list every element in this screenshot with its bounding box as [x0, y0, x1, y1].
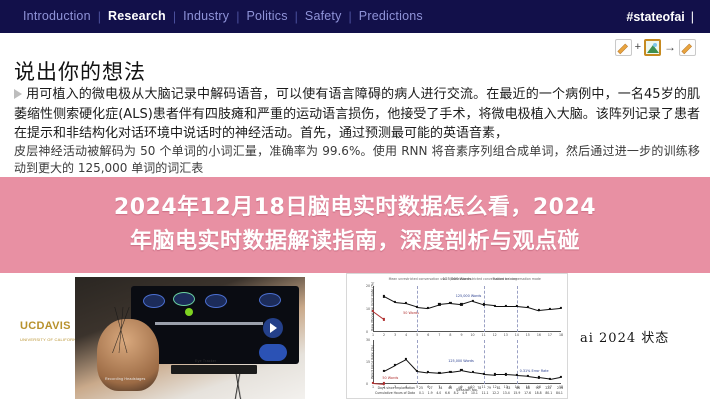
- chart-panel-raw-phoneme-error-rate: Raw Phoneme Error Rate (%) 20 10 0 50 Wo…: [373, 286, 561, 332]
- top-navigation-bar: Introduction | Research | Industry | Pol…: [0, 0, 710, 33]
- screen-bubble: [205, 294, 227, 308]
- photo-label-recording-headstages: Recording Headstages: [105, 377, 146, 382]
- title-overlay-banner: 2024年12月18日脑电实时数据怎么看，2024 年脑电实时数据解读指南，深度…: [0, 177, 710, 273]
- screen-bubble: [173, 292, 195, 306]
- chart-panel-word-error-rate: Word Error Rate (%) 30 15 0 50 Words 125…: [373, 340, 561, 384]
- chart-reference-line: [517, 286, 518, 332]
- chart-annotation-50-words-b: 50 Words: [382, 376, 398, 380]
- screen-caption-line: [155, 322, 263, 325]
- chart-xtick: 12: [493, 333, 497, 337]
- chart-annotation-125000-words-b: 125,000 Words: [448, 359, 474, 363]
- article-paragraph-tail: 皮层神经活动被解码为 50 个单词的小词汇量，准确率为 99.6%。使用 RNN…: [14, 143, 700, 177]
- uc-davis-logo-sub: UNIVERSITY OF CALIFORNIA: [20, 334, 81, 345]
- article-paragraph: 用可植入的微电极从大脑记录中解码语音，可以使有语言障碍的病人进行交流。在最近的一…: [14, 85, 700, 144]
- table-cell: 12.2: [492, 391, 499, 396]
- table-cell: 4.9: [462, 391, 467, 396]
- chart-xtick: 2: [383, 333, 385, 337]
- nav-item-introduction[interactable]: Introduction: [16, 0, 98, 33]
- chart-xtick: 8: [449, 333, 451, 337]
- screen-status-dot: [185, 308, 193, 316]
- chart-xtick: 17: [548, 333, 552, 337]
- chart-xtick: 7: [438, 333, 440, 337]
- chart-reference-line: [417, 286, 418, 332]
- electrode-wires: [87, 307, 157, 353]
- chart-x-axis: [373, 331, 561, 332]
- chart-reference-line: [517, 340, 518, 384]
- error-rate-chart: 125,000 Words Raw Phoneme Error Rate (%)…: [346, 273, 568, 399]
- table-cell: 80.1: [545, 391, 552, 396]
- chart-data-point: [383, 382, 385, 384]
- pencil-icon[interactable]: [615, 39, 632, 56]
- uc-davis-logo-main: UCDAVIS: [20, 320, 71, 332]
- chart-y-label-bottom: Word Error Rate (%): [371, 340, 376, 384]
- arrow-right-icon: →: [664, 39, 676, 56]
- table-cell: 6.6: [445, 391, 450, 396]
- screen-bubble: [143, 294, 165, 308]
- nav-item-industry[interactable]: Industry: [176, 0, 236, 33]
- chart-annotation-error-rate: 0.31% Error Rate: [520, 369, 549, 373]
- chart-xtick: 11: [482, 333, 486, 337]
- table-row: Cumulative Hours of Data 0.11.94.06.68.2…: [363, 391, 563, 396]
- chart-xtick: 10: [470, 333, 474, 337]
- chart-ytick: 0: [366, 330, 368, 334]
- chart-data-table: Days since Implantation 2527344648687879…: [363, 386, 563, 396]
- chart-data-point: [560, 307, 562, 309]
- chart-xtick: 9: [460, 333, 462, 337]
- nav-items-group: Introduction | Research | Industry | Pol…: [16, 0, 430, 33]
- chart-xtick: 6: [427, 333, 429, 337]
- nav-end-bar: |: [691, 10, 694, 24]
- table-row-values-hours: 0.11.94.06.68.24.910.111.112.213.415.917…: [419, 391, 563, 396]
- uc-davis-logo: UCDAVIS UNIVERSITY OF CALIFORNIA: [20, 321, 81, 345]
- photo-label-eye-tracker: Eye Tracker: [195, 359, 216, 364]
- tripod-stand: [195, 369, 285, 399]
- bci-photo: Recording Headstages Eye Tracker: [75, 277, 305, 399]
- table-cell: 4.0: [436, 391, 441, 396]
- chart-reference-line: [484, 286, 485, 332]
- chart-data-point: [383, 318, 385, 320]
- chart-x-axis: [373, 383, 561, 384]
- chart-xtick: 18: [559, 333, 563, 337]
- chart-xtick: 13: [504, 333, 508, 337]
- page-root: Introduction | Research | Industry | Pol…: [0, 0, 710, 400]
- chart-data-point: [560, 376, 562, 378]
- table-cell: 8.2: [454, 391, 459, 396]
- chart-reference-line: [484, 340, 485, 384]
- chart-ytick: 10: [366, 307, 370, 311]
- table-cell: 11.1: [482, 391, 489, 396]
- article-paragraph-text: 用可植入的微电极从大脑记录中解码语音，可以使有语言障碍的病人进行交流。在最近的一…: [14, 87, 700, 141]
- chart-xtick: 4: [405, 333, 407, 337]
- table-cell: 15.9: [513, 391, 520, 396]
- table-cell: 10.1: [471, 391, 478, 396]
- chart-xtick: 5: [416, 333, 418, 337]
- hashtag-stateofai[interactable]: #stateofai: [626, 10, 684, 24]
- pencil-icon-2[interactable]: [679, 39, 696, 56]
- chart-xtick: 3: [394, 333, 396, 337]
- table-cell: 17.6: [524, 391, 531, 396]
- table-cell: 1.9: [428, 391, 433, 396]
- chart-xtick: 16: [537, 333, 541, 337]
- nav-item-politics[interactable]: Politics: [239, 0, 294, 33]
- image-icon[interactable]: [644, 39, 661, 56]
- bullet-triangle-icon: [14, 89, 22, 99]
- table-cell: 18.8: [535, 391, 542, 396]
- chart-y-label-top: Raw Phoneme Error Rate (%): [371, 287, 376, 331]
- nav-item-research[interactable]: Research: [101, 0, 173, 33]
- chart-reference-label: Trained on conversation mode: [493, 277, 541, 281]
- overlay-line-1: 2024年12月18日脑电实时数据怎么看，2024: [114, 191, 596, 225]
- chart-reference-line: [417, 340, 418, 384]
- chart-ytick: 30: [366, 338, 370, 342]
- chart-annotation-125000-words: 125,000 Words: [456, 294, 482, 298]
- screen-pill-button: [259, 344, 287, 361]
- table-row-label-hours: Cumulative Hours of Data: [363, 391, 419, 396]
- screen-bubble: [259, 293, 281, 307]
- nav-item-safety[interactable]: Safety: [298, 0, 349, 33]
- overlay-line-2: 年脑电实时数据解读指南，深度剖析与观点碰: [130, 225, 580, 259]
- chart-xtick: 14: [515, 333, 519, 337]
- table-cell: 0.1: [419, 391, 424, 396]
- chart-xtick: 1: [372, 333, 374, 337]
- table-cell: 13.4: [503, 391, 510, 396]
- chart-ytick: 20: [366, 284, 370, 288]
- chart-ytick: 15: [366, 360, 370, 364]
- table-cell: 84.1: [556, 391, 563, 396]
- figure-row: UCDAVIS UNIVERSITY OF CALIFORNIA: [0, 269, 710, 399]
- page-title: 说出你的想法: [14, 56, 146, 86]
- chart-reference-label: Mean unrestricted conversation use: [389, 277, 446, 281]
- plus-icon: +: [635, 39, 641, 56]
- article-body: + → 说出你的想法 用可植入的微电极从大脑记录中解码语音，可以使有语言障碍的病…: [0, 33, 710, 400]
- play-icon: [263, 318, 283, 338]
- nav-hashtag-group: #stateofai |: [626, 10, 694, 24]
- right-caption-ai-2024: ai 2024 状态: [580, 327, 669, 346]
- nav-item-predictions[interactable]: Predictions: [352, 0, 430, 33]
- chart-xtick: 15: [526, 333, 530, 337]
- edit-toolbar: + →: [615, 39, 696, 56]
